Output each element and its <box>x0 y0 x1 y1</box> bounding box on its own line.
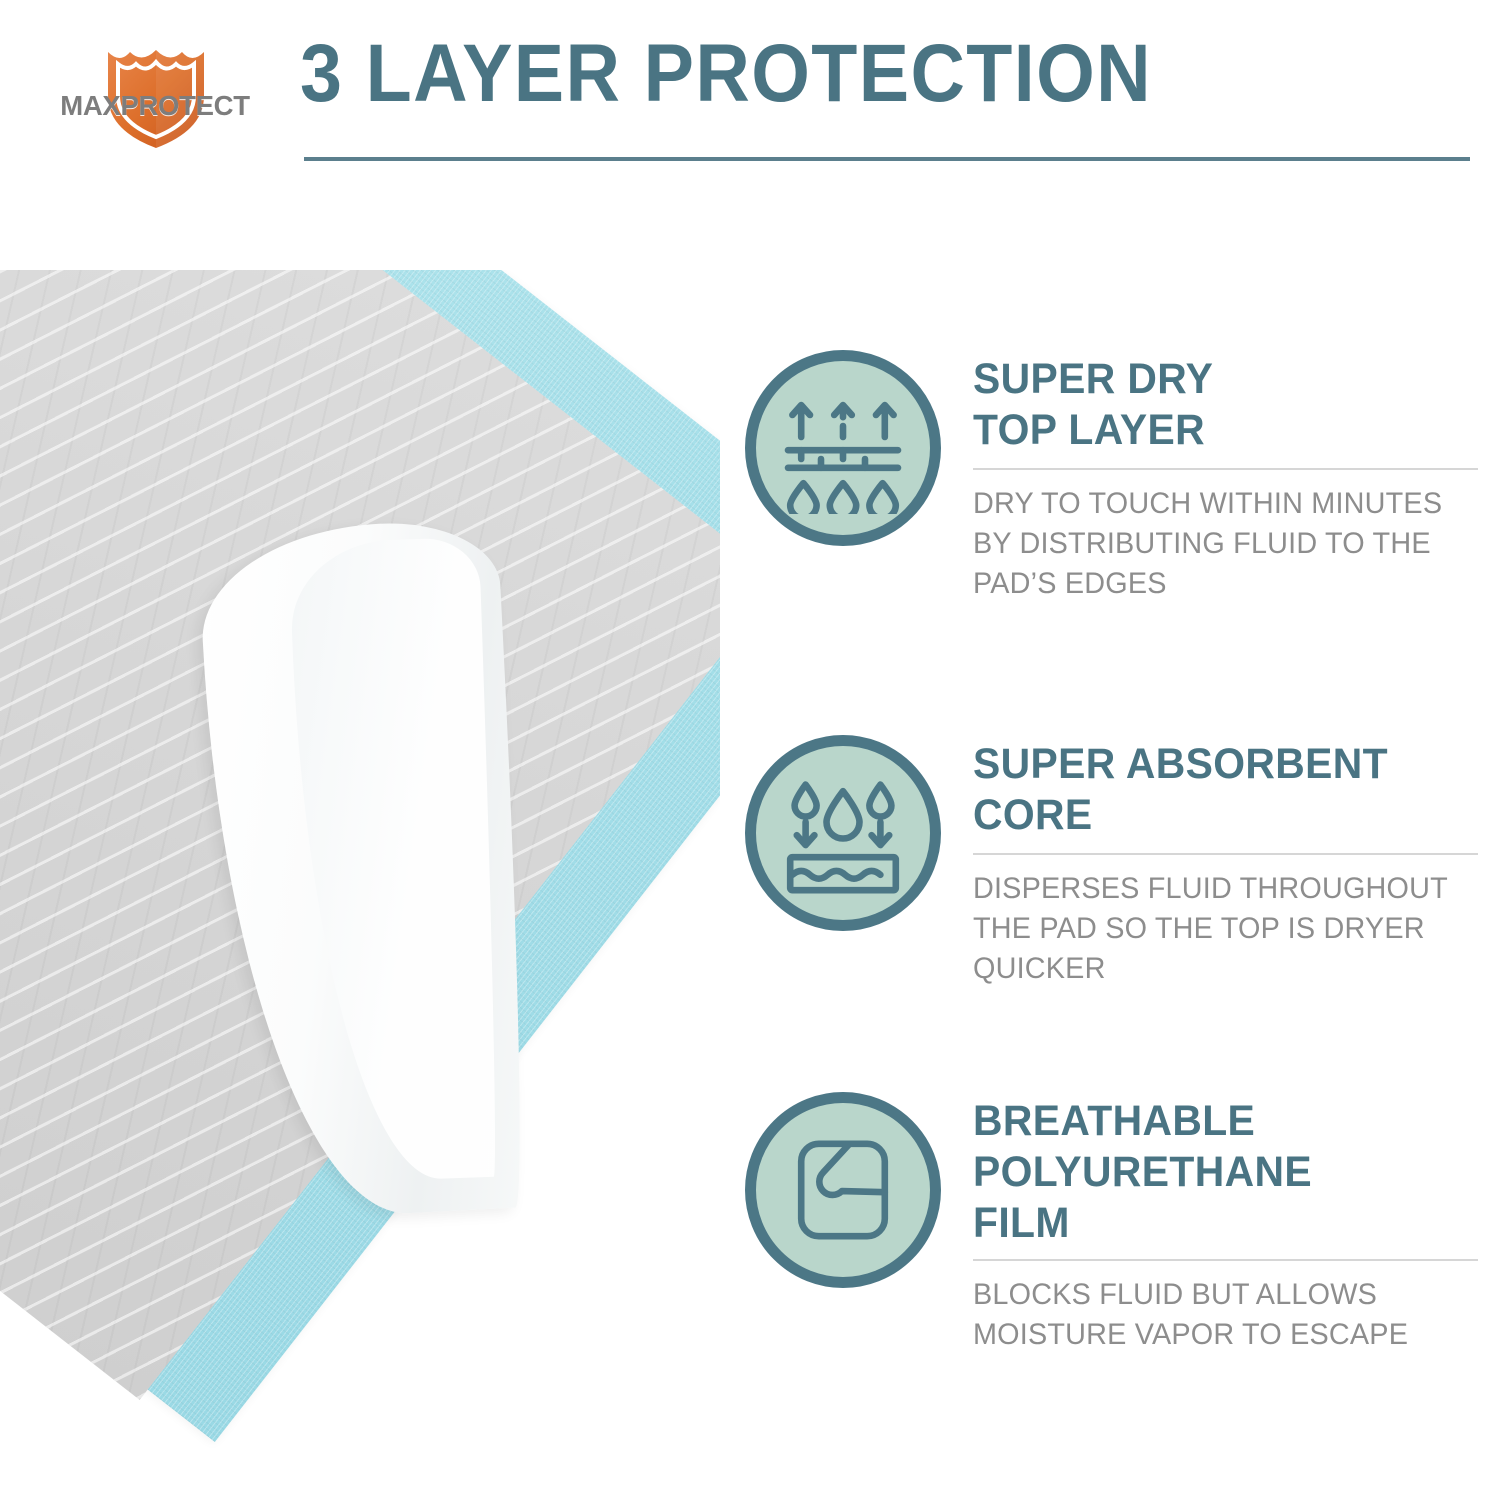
feature-super-dry-top-layer: SUPER DRY TOP LAYER DRY TO TOUCH WITHIN … <box>745 350 1490 604</box>
feature-body: DRY TO TOUCH WITHIN MINUTES BY DISTRIBUT… <box>973 484 1469 604</box>
evaporating-moisture-icon <box>745 350 941 546</box>
logo-wordmark: MAXPROTECT <box>40 90 270 122</box>
peeling-film-sheet-icon <box>745 1092 941 1288</box>
page-title: 3 LAYER PROTECTION <box>300 28 1152 120</box>
feature-divider <box>973 468 1478 470</box>
feature-body: DISPERSES FLUID THROUGHOUT THE PAD SO TH… <box>973 869 1469 989</box>
feature-heading: SUPER DRY TOP LAYER <box>973 354 1464 456</box>
brand-logo: MAXPROTECT <box>40 38 270 148</box>
feature-divider <box>973 1259 1478 1261</box>
feature-heading: SUPER ABSORBENT CORE <box>973 739 1464 841</box>
feature-divider <box>973 853 1478 855</box>
feature-breathable-polyurethane-film: BREATHABLE POLYURETHANE FILM BLOCKS FLUI… <box>745 1092 1490 1355</box>
feature-super-absorbent-core: SUPER ABSORBENT CORE DISPERSES FLUID THR… <box>745 735 1490 989</box>
feature-body: BLOCKS FLUID BUT ALLOWS MOISTURE VAPOR T… <box>973 1275 1469 1355</box>
header: MAXPROTECT 3 LAYER PROTECTION <box>0 0 1500 190</box>
product-photo <box>0 270 720 1500</box>
absorbing-droplets-icon <box>745 735 941 931</box>
feature-heading: BREATHABLE POLYURETHANE FILM <box>973 1096 1464 1249</box>
title-divider <box>304 157 1470 161</box>
